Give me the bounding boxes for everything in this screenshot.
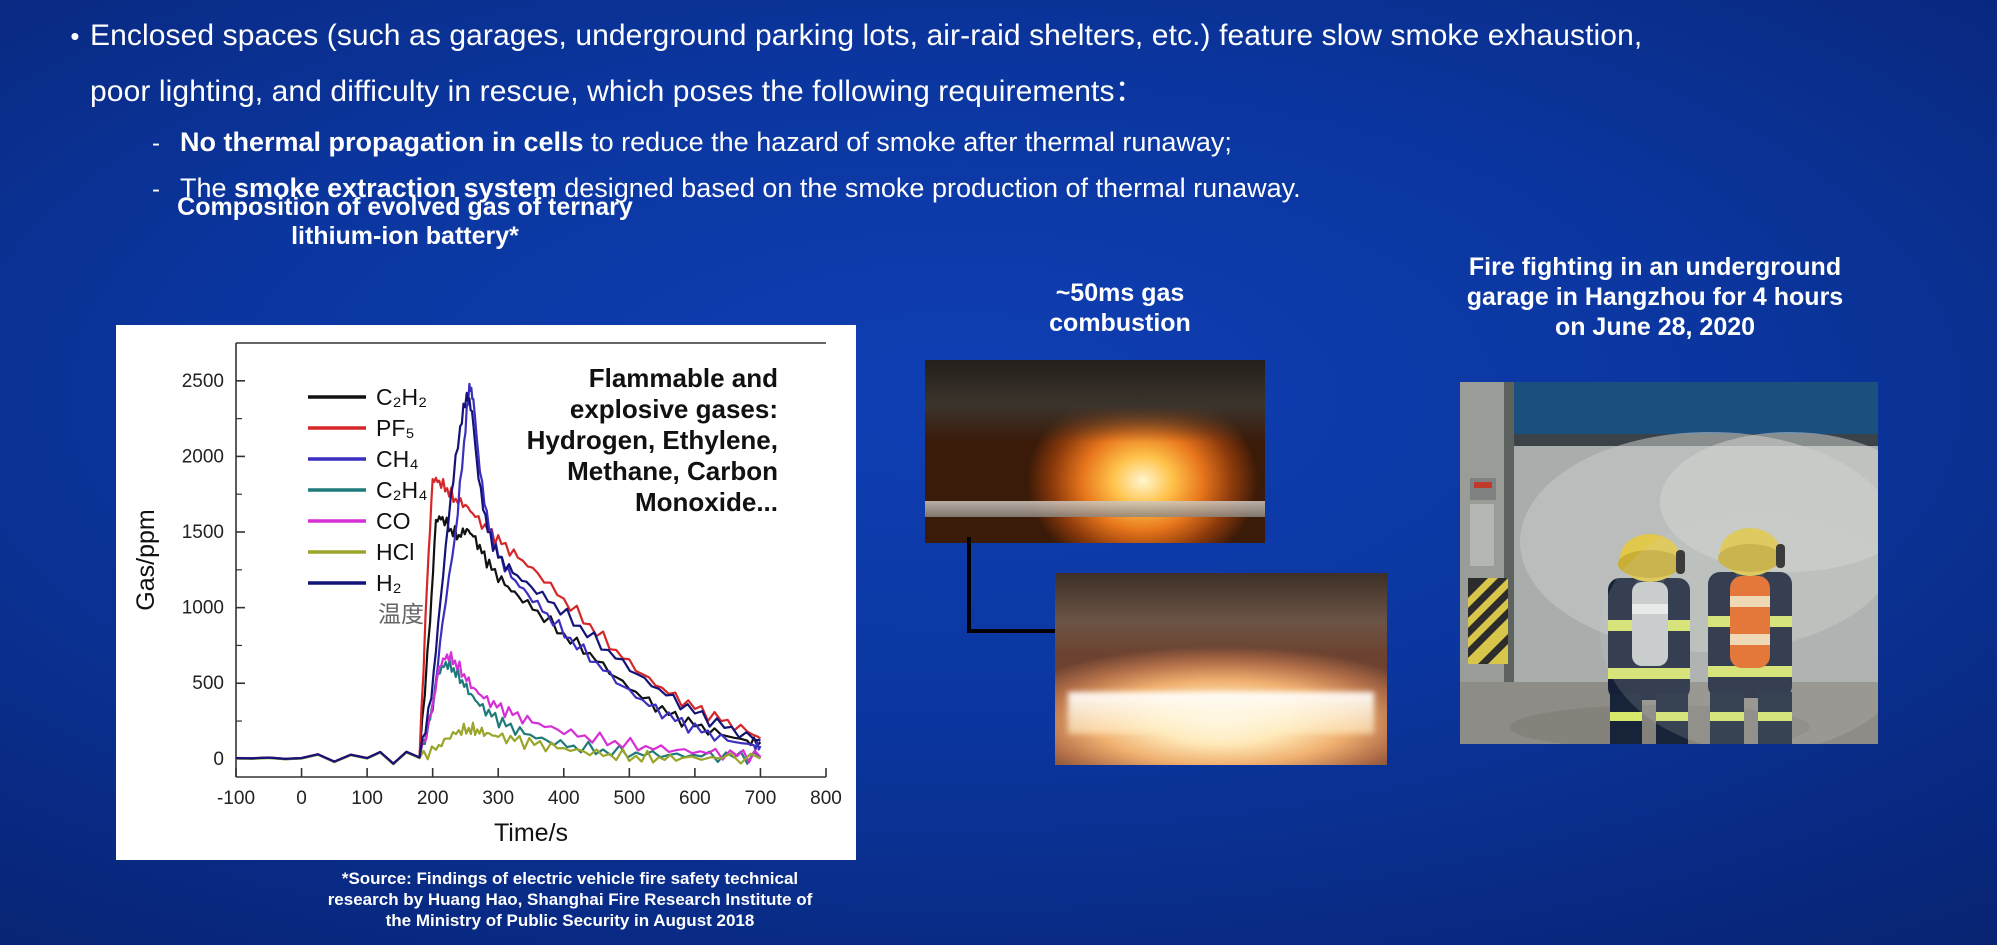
slide-canvas: • Enclosed spaces (such as garages, unde…	[0, 0, 1997, 945]
svg-text:温度: 温度	[378, 601, 424, 627]
svg-text:1500: 1500	[182, 522, 224, 543]
bullet-text-block: • Enclosed spaces (such as garages, unde…	[60, 8, 1940, 212]
photo-bottom-shadow	[1055, 573, 1387, 654]
svg-text:CH₄: CH₄	[376, 446, 419, 472]
main-bullet: • Enclosed spaces (such as garages, unde…	[60, 8, 1940, 120]
svg-text:700: 700	[745, 788, 777, 809]
svg-text:Flammable and: Flammable and	[589, 363, 778, 393]
svg-text:explosive gases:: explosive gases:	[570, 394, 778, 424]
evolved-gas-chart: 05001000150020002500-1000100200300400500…	[116, 325, 856, 860]
firefighters-scene	[1460, 382, 1878, 744]
main-bullet-line-1: Enclosed spaces (such as garages, underg…	[90, 19, 1642, 52]
svg-text:0: 0	[296, 788, 307, 809]
svg-text:CO: CO	[376, 508, 411, 534]
svg-text:500: 500	[192, 673, 224, 694]
svg-text:PF₅: PF₅	[376, 415, 415, 441]
svg-text:-100: -100	[217, 788, 255, 809]
middle-caption: ~50ms gas combustion	[960, 278, 1280, 338]
underground-garage-firefighters-photo	[1460, 382, 1878, 744]
svg-text:Gas/ppm: Gas/ppm	[132, 509, 160, 610]
sub-bullet-1: - No thermal propagation in cells to red…	[152, 120, 1940, 166]
svg-text:500: 500	[613, 788, 645, 809]
source-note-line-3: the Ministry of Public Security in Augus…	[300, 910, 840, 931]
battery-gas-combustion-photo-top	[925, 360, 1265, 543]
right-caption-line-2: garage in Hangzhou for 4 hours	[1440, 282, 1870, 312]
photo-bottom-flame-glow	[1068, 692, 1373, 734]
photo-top-shadow	[925, 360, 1265, 442]
svg-text:Methane, Carbon: Methane, Carbon	[567, 456, 778, 486]
source-note-line-2: research by Huang Hao, Shanghai Fire Res…	[300, 889, 840, 910]
svg-text:HCl: HCl	[376, 539, 414, 565]
middle-caption-line-2: combustion	[960, 308, 1280, 338]
svg-text:2500: 2500	[182, 371, 224, 392]
photo-top-rail	[925, 501, 1265, 517]
main-bullet-text: Enclosed spaces (such as garages, underg…	[90, 8, 1940, 120]
svg-text:Time/s: Time/s	[494, 819, 568, 847]
svg-text:400: 400	[548, 788, 580, 809]
sub-bullet-1-bold: No thermal propagation in cells	[180, 127, 584, 157]
svg-text:1000: 1000	[182, 598, 224, 619]
sub-bullet-1-rest: to reduce the hazard of smoke after ther…	[584, 127, 1232, 157]
chart-title-line-1: Composition of evolved gas of ternary	[110, 193, 700, 222]
chart-source-note: *Source: Findings of electric vehicle fi…	[300, 868, 840, 931]
svg-text:800: 800	[810, 788, 842, 809]
sub-bullet-dash-icon: -	[152, 122, 180, 166]
battery-gas-combustion-photo-bottom	[1055, 573, 1387, 765]
svg-text:300: 300	[482, 788, 514, 809]
chart-title-line-2: lithium-ion battery*	[110, 222, 700, 251]
svg-text:C₂H₄: C₂H₄	[376, 477, 428, 503]
sub-bullet-1-text: No thermal propagation in cells to reduc…	[180, 120, 1232, 164]
svg-text:200: 200	[417, 788, 449, 809]
bullet-dot-icon: •	[60, 8, 90, 64]
main-bullet-line-2: poor lighting, and difficulty in rescue,…	[90, 64, 1940, 120]
right-caption: Fire fighting in an underground garage i…	[1440, 252, 1870, 342]
svg-text:H₂: H₂	[376, 570, 402, 596]
evolved-gas-line-chart-svg: 05001000150020002500-1000100200300400500…	[116, 325, 856, 860]
svg-text:0: 0	[213, 749, 224, 770]
svg-text:2000: 2000	[182, 446, 224, 467]
right-caption-line-1: Fire fighting in an underground	[1440, 252, 1870, 282]
chart-title: Composition of evolved gas of ternary li…	[110, 193, 700, 251]
svg-text:Hydrogen, Ethylene,: Hydrogen, Ethylene,	[527, 425, 778, 455]
svg-text:100: 100	[351, 788, 383, 809]
right-caption-line-3: on June 28, 2020	[1440, 312, 1870, 342]
svg-text:C₂H₂: C₂H₂	[376, 384, 427, 410]
svg-text:600: 600	[679, 788, 711, 809]
middle-caption-line-1: ~50ms gas	[960, 278, 1280, 308]
source-note-line-1: *Source: Findings of electric vehicle fi…	[300, 868, 840, 889]
svg-text:Monoxide...: Monoxide...	[635, 487, 778, 517]
